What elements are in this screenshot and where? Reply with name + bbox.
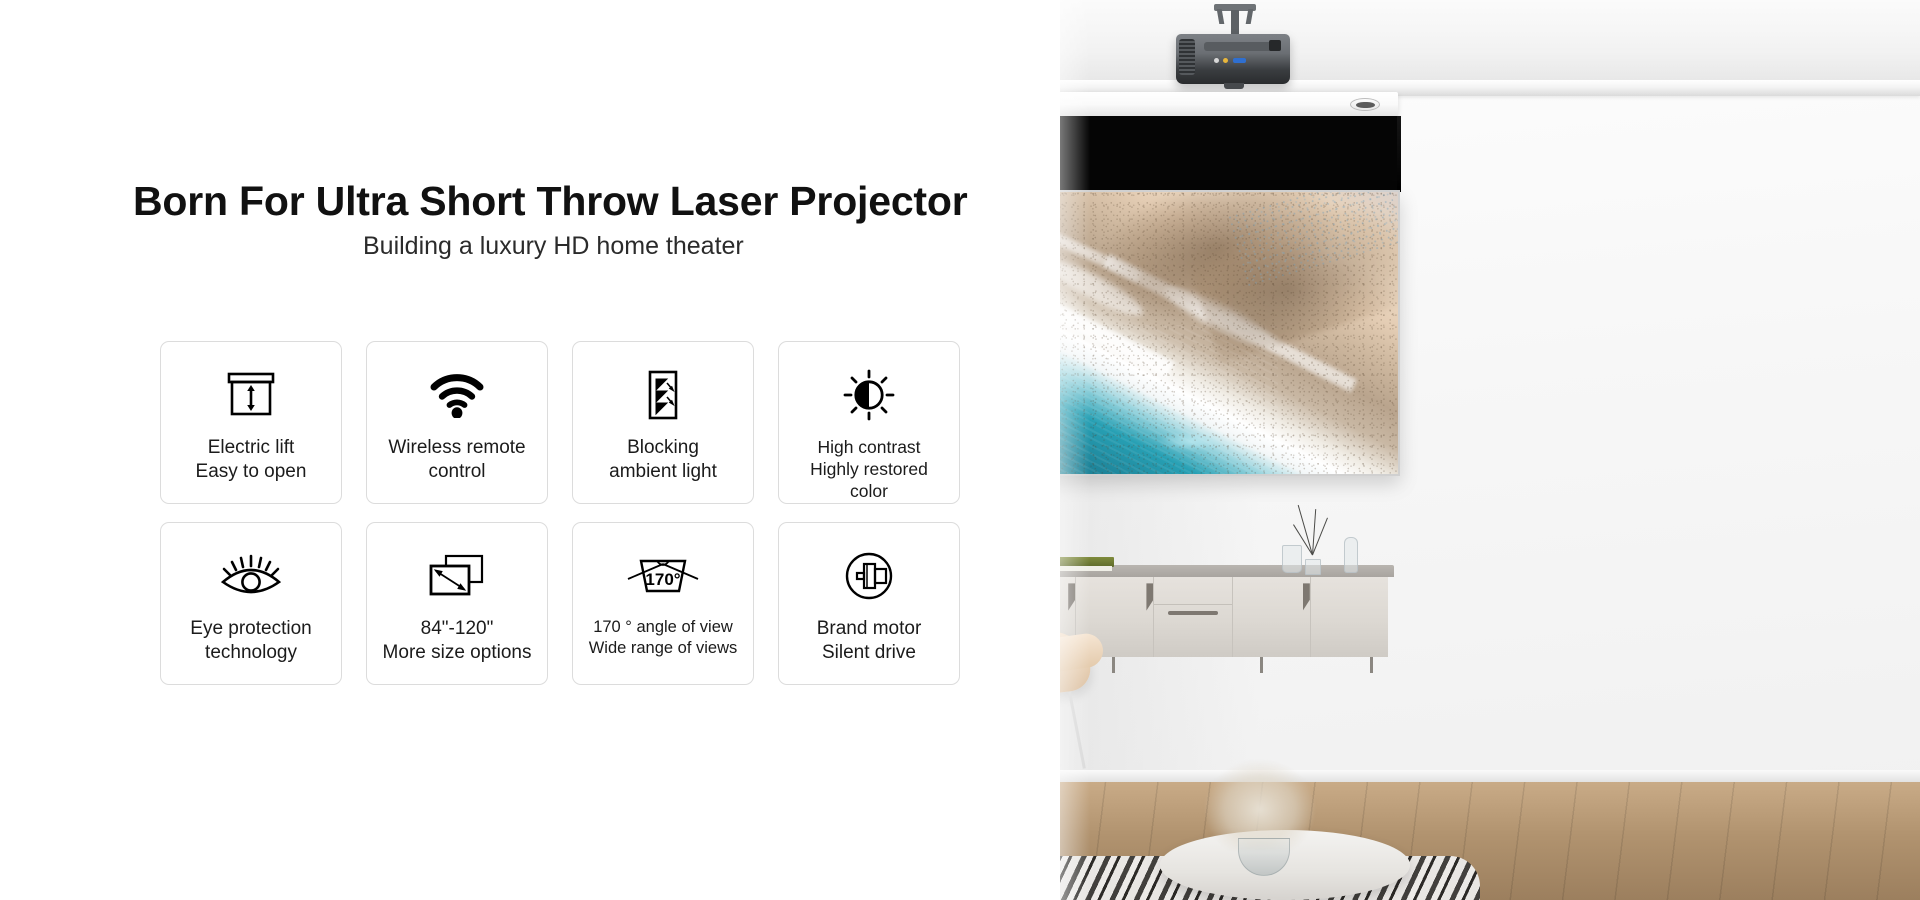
- marketing-panel: Born For Ultra Short Throw Laser Project…: [0, 0, 1060, 900]
- feature-card-high-contrast[interactable]: High contrast Highly restored color: [778, 341, 960, 504]
- room-scene-photo: [1000, 0, 1920, 900]
- feature-label: Blocking ambient light: [603, 436, 723, 484]
- feature-label: Electric lift Easy to open: [190, 436, 313, 484]
- dried-pampas-plant: [1205, 760, 1315, 850]
- angle-badge-text: 170°: [645, 570, 680, 589]
- feature-card-brand-motor[interactable]: Brand motor Silent drive: [778, 522, 960, 685]
- feature-label: High contrast Highly restored color: [804, 436, 934, 503]
- motor-icon: [843, 545, 895, 607]
- feature-card-electric-lift[interactable]: Electric lift Easy to open: [160, 341, 342, 504]
- eye-icon: [218, 545, 284, 607]
- wifi-icon: [429, 364, 485, 426]
- feature-label: 170 ° angle of view Wide range of views: [583, 617, 744, 659]
- brand-logo: [1350, 98, 1380, 111]
- brightness-contrast-icon: [843, 364, 895, 426]
- glass-tumbler: [1305, 559, 1321, 575]
- promo-banner: Born For Ultra Short Throw Laser Project…: [0, 0, 1920, 900]
- feature-label: Brand motor Silent drive: [811, 617, 928, 665]
- page-title: Born For Ultra Short Throw Laser Project…: [133, 178, 967, 225]
- screen-lift-icon: [224, 364, 278, 426]
- ambient-light-block-icon: [643, 364, 683, 426]
- feature-card-eye-protection[interactable]: Eye protection technology: [160, 522, 342, 685]
- feature-card-viewing-angle[interactable]: 170° 170 ° angle of view Wide range of v…: [572, 522, 754, 685]
- tall-glass-vase: [1344, 537, 1358, 573]
- ceiling: [1000, 0, 1920, 86]
- feature-card-size-options[interactable]: 84"-120" More size options: [366, 522, 548, 685]
- baseboard: [1000, 770, 1920, 782]
- screen-size-icon: [426, 545, 488, 607]
- projection-screen: [1000, 190, 1400, 476]
- feature-grid: Electric lift Easy to open Wireless remo…: [160, 341, 960, 685]
- projector-icon: [1176, 34, 1290, 84]
- page-subtitle: Building a luxury HD home theater: [363, 232, 744, 261]
- feature-label: Eye protection technology: [184, 617, 317, 665]
- feature-card-wireless-remote[interactable]: Wireless remote control: [366, 341, 548, 504]
- glass-vase: [1282, 545, 1302, 573]
- viewing-angle-icon: 170°: [624, 545, 702, 607]
- projector-ceiling-mount: [1214, 4, 1256, 38]
- feature-label: 84"-120" More size options: [377, 617, 538, 665]
- feature-card-ambient-light[interactable]: Blocking ambient light: [572, 341, 754, 504]
- feature-label: Wireless remote control: [382, 436, 531, 484]
